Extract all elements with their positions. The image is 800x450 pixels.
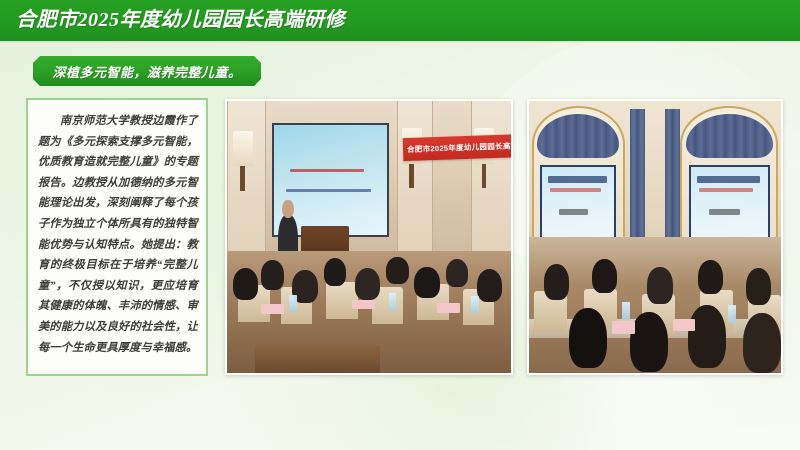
attendee-head-front	[688, 305, 726, 368]
attendee-head-front	[630, 312, 668, 372]
slide-bullet-line	[559, 209, 588, 215]
water-bottle	[289, 295, 296, 312]
water-bottle	[728, 305, 736, 323]
slide-title-line	[697, 176, 760, 183]
hall-screen-text-line-1	[290, 169, 364, 172]
front-table	[255, 346, 380, 373]
hall-wall-panel-mid	[397, 101, 433, 270]
subtitle-ribbon: 深植多元智能，滋养完整儿童。	[33, 56, 261, 86]
attendee-head	[544, 264, 569, 299]
attendee-head	[386, 257, 409, 284]
header-bar: 合肥市2025年度幼儿园园长高端研修	[0, 0, 800, 41]
hall-wall-panel-left	[227, 101, 266, 270]
slide-title-line	[548, 176, 608, 183]
hall-wall-panel-right	[471, 101, 513, 270]
conference-hall-photo-content: 合肥市2025年度幼儿园园长高端	[227, 101, 511, 373]
slide-canvas: 合肥市2025年度幼儿园园长高端研修 深植多元智能，滋养完整儿童。 南京师范大学…	[0, 0, 800, 450]
page-title: 合肥市2025年度幼儿园园长高端研修	[16, 7, 345, 33]
name-card	[673, 319, 696, 331]
name-card	[437, 303, 460, 313]
body-paragraph: 南京师范大学教授边霞作了题为《多元探索支撑多元智能，优质教育造就完整儿童》的专题…	[38, 111, 198, 358]
attendee-head	[324, 258, 347, 286]
attendee-head	[414, 267, 440, 299]
slide-bullet-line	[709, 209, 740, 215]
attendee-head	[355, 268, 381, 300]
hall-audience-area	[227, 251, 511, 373]
conference-hall-photo: 合肥市2025年度幼儿园园长高端	[225, 99, 513, 375]
attendee-head	[261, 260, 284, 289]
attendee-head	[592, 259, 617, 293]
red-banner-text: 合肥市2025年度幼儿园园长高端	[403, 141, 513, 156]
hall-screen-text-line-2	[286, 189, 371, 192]
water-bottle	[622, 302, 630, 320]
attendee-head	[233, 268, 259, 300]
name-card	[261, 304, 284, 314]
attendee-head-front	[743, 313, 781, 373]
subtitle-text: 深植多元智能，滋养完整儿童。	[33, 56, 261, 86]
arch-drape	[537, 114, 619, 158]
attendee-head	[477, 269, 503, 302]
name-card	[352, 300, 375, 310]
water-bottle	[389, 293, 396, 310]
projection-screens-photo-content	[529, 101, 781, 373]
attendee-head-front	[569, 308, 607, 368]
attendee-head	[647, 267, 672, 304]
red-banner: 合肥市2025年度幼儿园园长高端	[403, 134, 513, 161]
wall-sconce-left	[233, 131, 253, 166]
arch-drape	[686, 114, 773, 158]
slide-subtitle-line	[699, 188, 753, 193]
name-card	[612, 321, 635, 333]
water-bottle	[471, 296, 478, 313]
text-panel: 南京师范大学教授边霞作了题为《多元探索支撑多元智能，优质教育造就完整儿童》的专题…	[26, 98, 208, 376]
attendee-head	[446, 259, 469, 287]
screens-audience-area	[529, 237, 781, 373]
projection-screens-photo	[527, 99, 783, 375]
attendee-head	[746, 268, 771, 305]
attendee-head	[698, 260, 723, 294]
slide-subtitle-line	[550, 188, 601, 193]
